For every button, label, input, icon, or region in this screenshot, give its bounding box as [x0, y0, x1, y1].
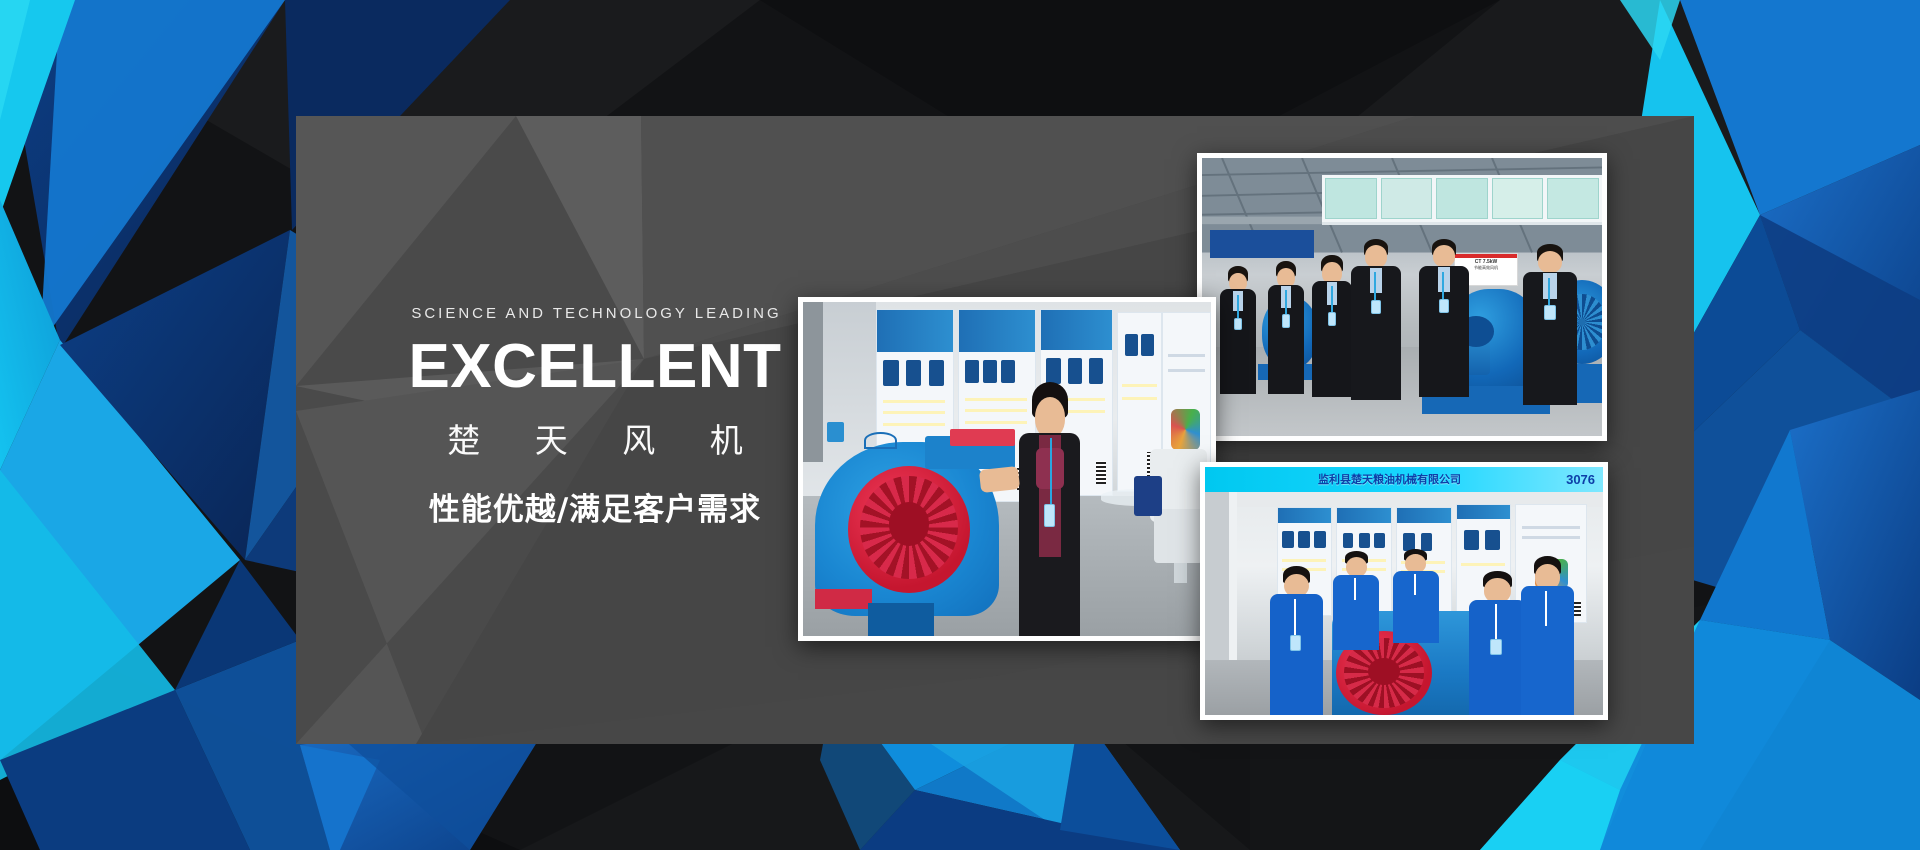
booth-number: 3076	[1566, 472, 1595, 487]
tagline-cn: 性能优越/满足客户需求	[385, 484, 805, 529]
eyebrow-text: SCIENCE AND TECHNOLOGY LEADING	[385, 305, 805, 322]
photo-team-suits: CT 7.5kW 节能高效风机	[1197, 153, 1607, 441]
page-title: EXCELLENT	[385, 336, 805, 398]
photo-team-blue: 监利县楚天粮油机械有限公司 3076	[1200, 462, 1608, 720]
brand-name-cn: 楚 天 风 机	[385, 414, 805, 462]
hero-text-block: SCIENCE AND TECHNOLOGY LEADING EXCELLENT…	[385, 305, 805, 529]
booth-banner-title: 监利县楚天粮油机械有限公司	[1318, 471, 1461, 487]
booth-banner: 监利县楚天粮油机械有限公司 3076	[1205, 467, 1603, 492]
photo-hall	[798, 297, 1216, 641]
hero-banner: SCIENCE AND TECHNOLOGY LEADING EXCELLENT…	[0, 0, 1920, 850]
